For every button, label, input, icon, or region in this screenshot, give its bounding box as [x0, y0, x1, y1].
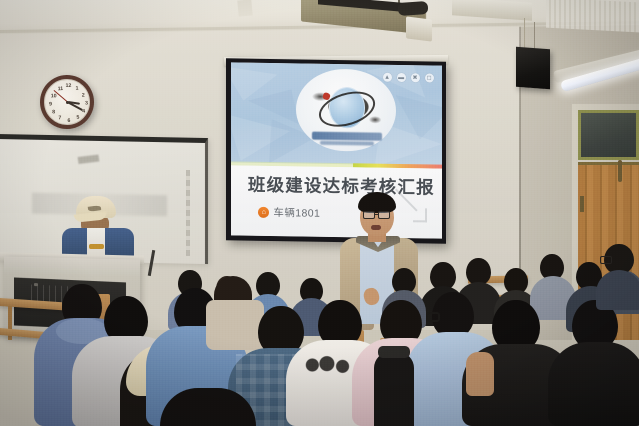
clock-numeral: 8 [52, 109, 55, 115]
glasses-icon [426, 312, 440, 322]
whiteboard-edge-rail [186, 170, 190, 256]
door-transom-frame [578, 110, 639, 160]
whiteboard-mark [78, 154, 100, 164]
glasses-icon [378, 211, 390, 219]
presenter-mouth [371, 225, 381, 230]
glasses-bridge [375, 214, 378, 215]
clock-numeral: 9 [49, 101, 52, 107]
clock-numeral: 3 [85, 100, 88, 106]
logo-caption-sub [320, 141, 375, 146]
glasses-icon [363, 211, 375, 219]
slide-subtitle: 车辆1801 [273, 205, 320, 221]
student-top-beige [206, 300, 264, 350]
save-icon[interactable]: ◻ [425, 73, 434, 82]
thermos-bottle [374, 352, 414, 426]
door-handle[interactable] [618, 160, 622, 182]
bottle-cap [378, 346, 410, 358]
print-icon[interactable]: ▲ [383, 73, 392, 82]
comment-icon[interactable]: ▬ [397, 73, 406, 82]
wall-speaker [516, 47, 550, 89]
clock-numeral: 10 [51, 93, 57, 99]
glasses-icon [600, 256, 612, 264]
podium-attendant [60, 196, 136, 260]
speaker-wire [534, 22, 535, 50]
clock-center-pin [65, 100, 68, 103]
clock-face: 12 1 2 3 4 5 6 7 8 9 10 11 [43, 78, 90, 125]
clock-numeral: 1 [76, 86, 79, 92]
logo-caption [312, 132, 383, 140]
student-hand [466, 352, 494, 396]
cut-icon[interactable]: ✖ [411, 73, 420, 82]
clock-numeral: 6 [67, 118, 70, 124]
lectern-indicator [34, 283, 38, 286]
door-transom-glass [581, 113, 636, 157]
ceiling-panel [546, 0, 639, 32]
home-icon: ⌂ [258, 207, 269, 218]
slide-toolbar[interactable]: ▲ ▬ ✖ ◻ [383, 73, 434, 83]
projector-lens [406, 16, 432, 41]
clock-numeral: 7 [58, 115, 61, 121]
ceiling-tag [237, 0, 252, 17]
door-hinge [580, 196, 584, 212]
university-logo [307, 76, 387, 143]
classroom-photo: 12 1 2 3 4 5 6 7 8 9 10 11 [0, 0, 639, 426]
presenter-hair [358, 192, 396, 213]
slide-subtitle-row: ⌂ 车辆1801 [258, 205, 320, 221]
clock-numeral: 12 [66, 83, 72, 89]
ceiling-pipe [398, 1, 429, 16]
hoodie-graphic [300, 348, 356, 382]
clock-numeral: 5 [76, 115, 79, 121]
clock-numeral: 2 [82, 93, 85, 99]
clock-numeral: 11 [58, 86, 64, 92]
attendant-shirt-graphic [89, 244, 104, 249]
slide-header-area: ▲ ▬ ✖ ◻ [231, 62, 442, 166]
